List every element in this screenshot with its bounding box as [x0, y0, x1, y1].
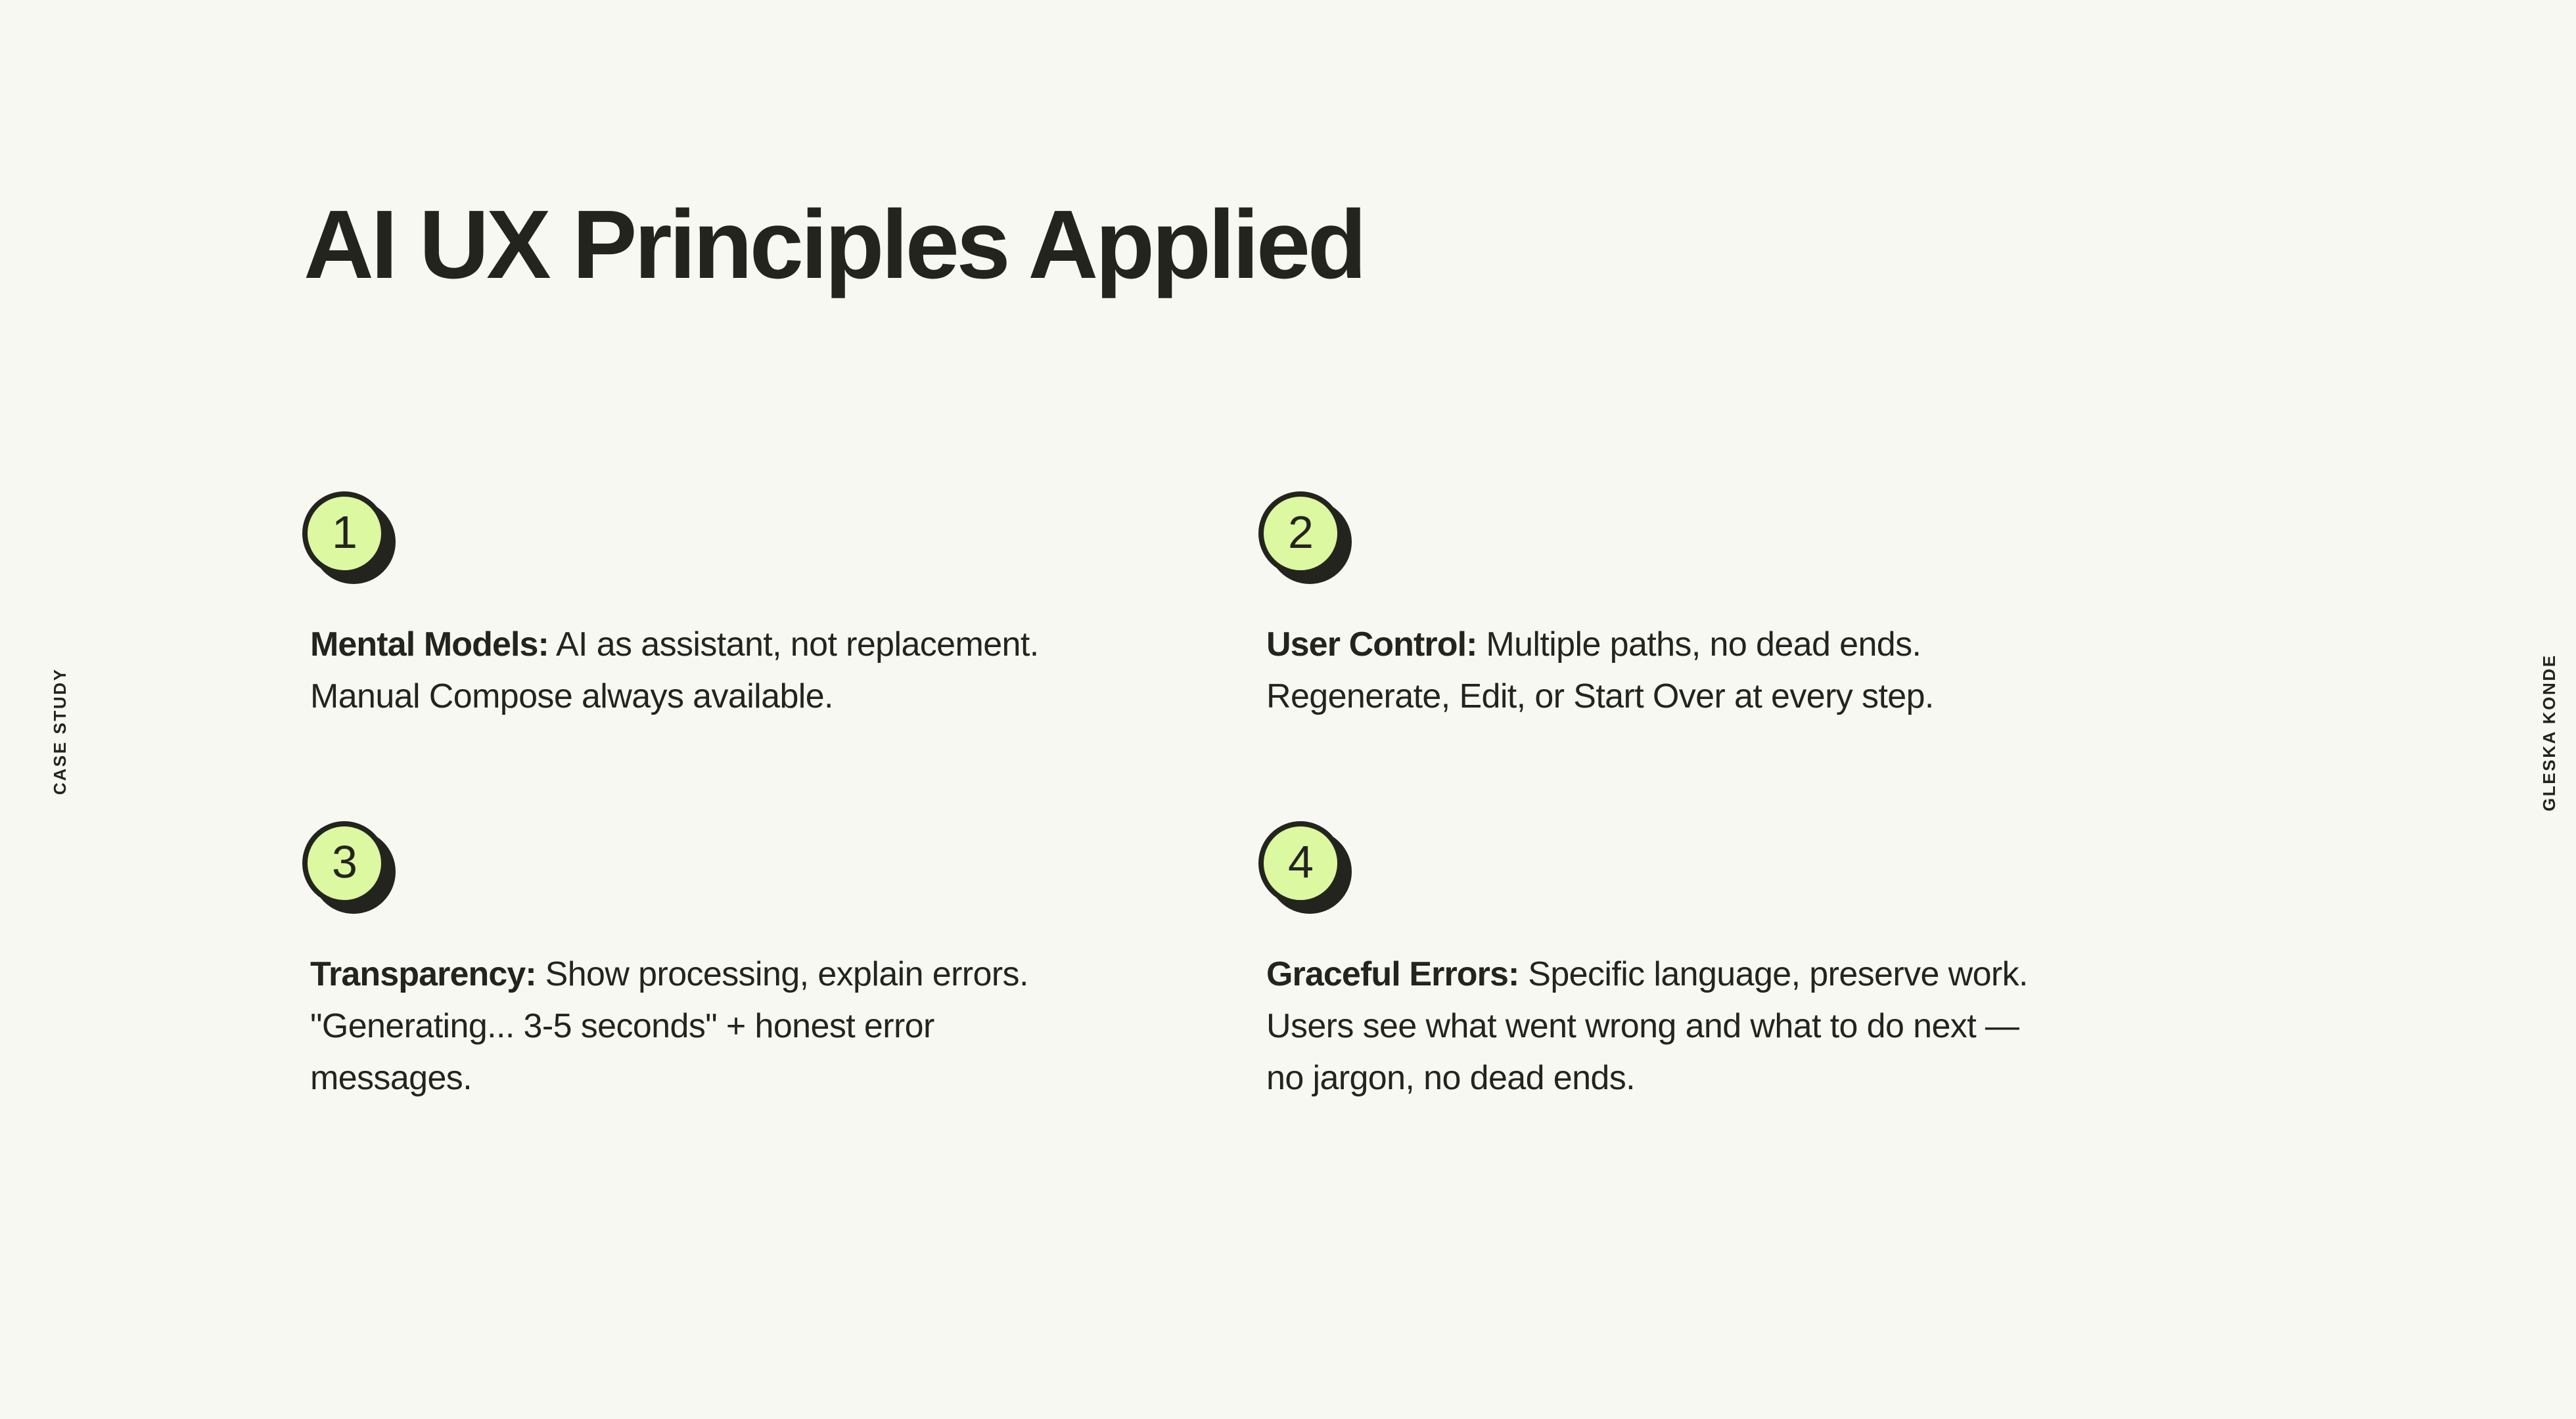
slide-canvas: CASE STUDY GLESKA KONDE AI UX Principles… [0, 0, 2576, 1419]
principle-badge-2: 2 [1258, 491, 1352, 585]
principle-text-3: Transparency: Show processing, explain e… [310, 949, 1072, 1104]
principle-badge-1: 1 [302, 491, 396, 585]
principle-item-3: 3 Transparency: Show processing, explain… [302, 821, 1124, 1138]
principle-lead-label: User Control: [1266, 625, 1477, 664]
side-label-case-study: CASE STUDY [51, 667, 68, 795]
badge-circle-icon: 2 [1258, 491, 1343, 575]
badge-number-label: 1 [332, 509, 357, 555]
principle-item-1: 1 Mental Models: AI as assistant, not re… [302, 491, 1124, 757]
principle-badge-4: 4 [1258, 821, 1352, 914]
principle-lead-label: Mental Models: [310, 625, 549, 664]
principle-lead-label: Graceful Errors: [1266, 955, 1519, 993]
principle-lead-label: Transparency: [310, 955, 536, 993]
principle-item-4: 4 Graceful Errors: Specific language, pr… [1258, 821, 2080, 1138]
badge-number-label: 2 [1288, 509, 1313, 555]
principle-text-2: User Control: Multiple paths, no dead en… [1266, 619, 2029, 723]
principle-item-2: 2 User Control: Multiple paths, no dead … [1258, 491, 2080, 757]
principle-text-4: Graceful Errors: Specific language, pres… [1266, 949, 2029, 1104]
badge-circle-icon: 3 [302, 821, 386, 905]
page-title: AI UX Principles Applied [304, 194, 1364, 296]
badge-circle-icon: 4 [1258, 821, 1343, 905]
principles-grid: 1 Mental Models: AI as assistant, not re… [302, 491, 2274, 1138]
side-label-brand: GLESKA KONDE [2541, 654, 2558, 811]
principle-badge-3: 3 [302, 821, 396, 914]
badge-number-label: 4 [1288, 839, 1313, 885]
principle-text-1: Mental Models: AI as assistant, not repl… [310, 619, 1072, 723]
badge-circle-icon: 1 [302, 491, 386, 575]
badge-number-label: 3 [332, 839, 357, 885]
